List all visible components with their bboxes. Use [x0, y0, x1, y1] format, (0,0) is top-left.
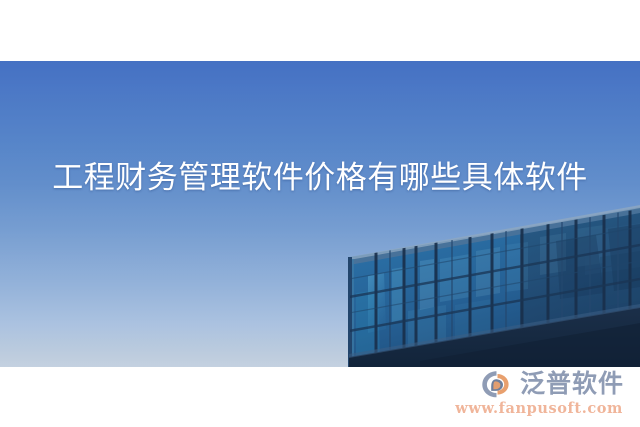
logo-wordmark: 泛普软件	[520, 370, 624, 398]
top-white-margin	[0, 0, 640, 61]
page-title: 工程财务管理软件价格有哪些具体软件	[0, 157, 640, 199]
brand-logo[interactable]: 泛普软件 www.fanpusoft.com	[455, 369, 624, 417]
photo-background	[0, 61, 640, 367]
glass-building-photo	[0, 61, 640, 367]
banner-image: 工程财务管理软件价格有哪些具体软件 泛普软件 www.fanpusoft.com	[0, 0, 640, 427]
logo-row: 泛普软件	[480, 369, 624, 399]
logo-url: www.fanpusoft.com	[455, 400, 623, 417]
footer-bar: 泛普软件 www.fanpusoft.com	[0, 367, 640, 427]
fanpu-swoosh-icon	[480, 369, 514, 399]
